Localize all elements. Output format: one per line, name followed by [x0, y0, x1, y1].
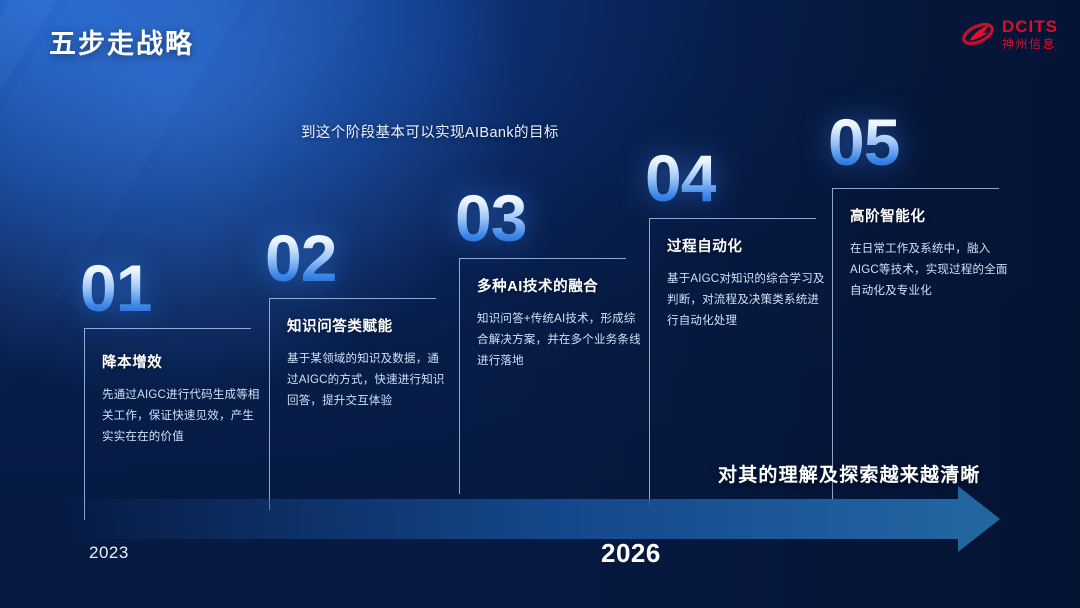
- step-body: 过程自动化 基于AIGC对知识的综合学习及判断，对流程及决策类系统进行自动化处理: [667, 235, 827, 332]
- page-title: 五步走战略: [49, 22, 194, 61]
- header: 五步走战略 DCITS 神州信息: [0, 0, 1080, 80]
- step-body: 多种AI技术的融合 知识问答+传统AI技术，形成综合解决方案，并在多个业务条线进…: [477, 275, 642, 372]
- logo-wordmark-cn: 神州信息: [1002, 38, 1058, 50]
- step-title: 知识问答类赋能: [287, 315, 449, 336]
- timeline-year-end: 2026: [601, 538, 661, 569]
- swoosh-icon: [961, 19, 995, 49]
- callout-annotation: 到这个阶段基本可以实现AIBank的目标: [301, 121, 559, 142]
- logo-wordmark-en: DCITS: [1002, 18, 1058, 35]
- step-number: 04: [645, 148, 716, 209]
- step-description: 在日常工作及系统中，融入AIGC等技术，实现过程的全面自动化及专业化: [850, 239, 1008, 302]
- brand-logo: DCITS 神州信息: [961, 18, 1058, 50]
- step-description: 先通过AIGC进行代码生成等相关工作，保证快速见效，产生实实在在的价值: [102, 385, 262, 448]
- step-description: 基于某领域的知识及数据，通过AIGC的方式，快速进行知识回答，提升交互体验: [287, 349, 449, 412]
- step-number: 03: [455, 188, 526, 249]
- timeline-year-start: 2023: [89, 543, 129, 563]
- step-description: 知识问答+传统AI技术，形成综合解决方案，并在多个业务条线进行落地: [477, 309, 642, 372]
- step-title: 降本增效: [102, 351, 262, 372]
- step-title: 多种AI技术的融合: [477, 275, 642, 296]
- step-body: 知识问答类赋能 基于某领域的知识及数据，通过AIGC的方式，快速进行知识回答，提…: [287, 315, 449, 412]
- step-title: 高阶智能化: [850, 205, 1008, 226]
- step-number: 01: [80, 258, 151, 319]
- step-title: 过程自动化: [667, 235, 827, 256]
- step-body: 高阶智能化 在日常工作及系统中，融入AIGC等技术，实现过程的全面自动化及专业化: [850, 205, 1008, 302]
- step-body: 降本增效 先通过AIGC进行代码生成等相关工作，保证快速见效，产生实实在在的价值: [102, 351, 262, 448]
- step-description: 基于AIGC对知识的综合学习及判断，对流程及决策类系统进行自动化处理: [667, 269, 827, 332]
- step-number: 05: [828, 112, 899, 173]
- step-number: 02: [265, 228, 336, 289]
- slide-canvas: 五步走战略 DCITS 神州信息 到这个阶段基本可以实现AIBank的目标 01…: [0, 0, 1080, 608]
